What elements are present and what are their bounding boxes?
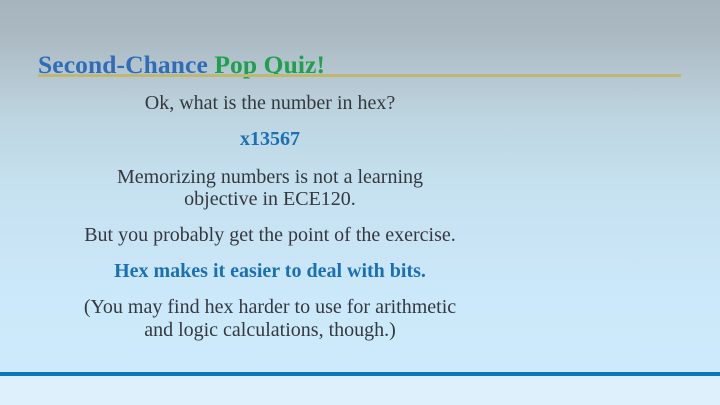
slide-canvas: Second-Chance Pop Quiz! Ok, what is the …: [0, 0, 720, 405]
footer-bar: ECE 120: Introduction to Computing © 201…: [0, 376, 720, 405]
body-line-hex-easier: Hex makes it easier to deal with bits.: [0, 260, 540, 283]
title-divider-rule: [38, 74, 681, 77]
body-line-caveat-1: (You may find hex harder to use for arit…: [0, 296, 540, 319]
body-line-point-of-exercise: But you probably get the point of the ex…: [0, 224, 540, 247]
slide-body: Ok, what is the number in hex? x13567 Me…: [0, 92, 540, 341]
body-line-answer: x13567: [0, 128, 540, 151]
body-line-question: Ok, what is the number in hex?: [0, 92, 540, 115]
body-line-caveat-2: and logic calculations, though.): [0, 319, 540, 342]
body-line-memorizing-1: Memorizing numbers is not a learning: [0, 166, 540, 189]
body-line-memorizing-2: objective in ECE120.: [0, 188, 540, 211]
